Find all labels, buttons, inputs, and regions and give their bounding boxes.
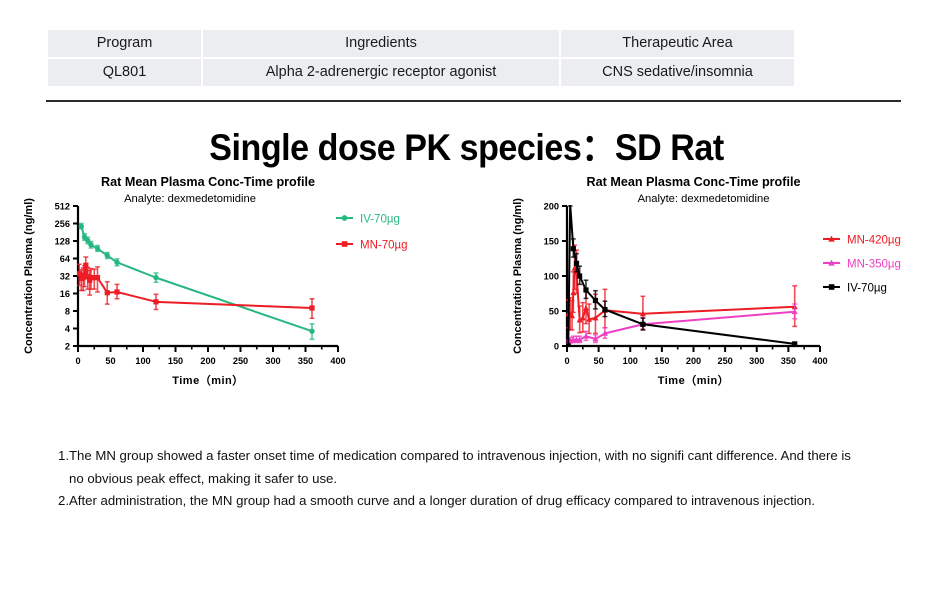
series-line (79, 265, 312, 308)
chart-canvas: Rat Mean Plasma Conc-Time profileAnalyte… (505, 172, 930, 402)
chart-canvas: Rat Mean Plasma Conc-Time profileAnalyte… (18, 172, 488, 402)
note-text: After administration, the MN group had a… (69, 490, 858, 513)
x-tick-label: 250 (233, 356, 248, 366)
series-IV-70µg (566, 204, 798, 349)
chart-right-multi-dose: Rat Mean Plasma Conc-Time profileAnalyte… (505, 172, 930, 402)
data-point (792, 341, 797, 346)
x-tick-label: 50 (594, 356, 604, 366)
x-axis-label: Time（min） (658, 374, 730, 387)
page-title: Single dose PK species：SD Rat (37, 117, 895, 171)
x-tick-label: 100 (623, 356, 638, 366)
table-header-program: Program (47, 29, 202, 58)
data-point (577, 273, 582, 278)
conclusion-notes: 1. The MN group showed a faster onset ti… (58, 445, 858, 513)
y-tick-label: 2 (65, 341, 70, 351)
data-point (105, 290, 110, 295)
x-tick-label: 350 (781, 356, 796, 366)
y-tick-label: 128 (55, 236, 70, 246)
x-tick-label: 0 (564, 356, 569, 366)
data-point (580, 315, 586, 321)
table-cell-program: QL801 (47, 58, 202, 87)
legend-item-MN-350µg[interactable]: MN-350µg (823, 259, 901, 271)
y-tick-label: 256 (55, 219, 70, 229)
y-axis-label: Concentration Plasma (ng/ml) (512, 198, 524, 354)
data-point (583, 305, 589, 311)
legend-item-MN-70µg[interactable]: MN-70µg (336, 240, 408, 252)
legend-item-MN-420µg[interactable]: MN-420µg (823, 235, 901, 247)
x-axis-label: Time（min） (172, 374, 244, 387)
data-point (571, 246, 576, 251)
plot-area (565, 204, 797, 349)
table-header-spacer (795, 29, 909, 58)
note-number: 2. (58, 490, 69, 513)
note-item: 1. The MN group showed a faster onset ti… (58, 445, 858, 490)
data-point (105, 253, 110, 258)
y-tick-label: 16 (60, 289, 70, 299)
series-line (81, 226, 312, 331)
y-tick-label: 100 (544, 271, 559, 281)
table-cell-spacer (795, 58, 909, 87)
note-text: The MN group showed a faster onset time … (69, 445, 858, 490)
y-tick-label: 512 (55, 201, 70, 211)
plot-area (77, 224, 315, 340)
legend-marker (342, 215, 348, 221)
series-MN-350µg (565, 304, 797, 345)
table-cell-therapeutic-area: CNS sedative/insomnia (560, 58, 795, 87)
y-tick-label: 150 (544, 236, 559, 246)
legend-item-IV-70µg[interactable]: IV-70µg (336, 214, 400, 226)
data-point (153, 299, 158, 304)
note-item: 2. After administration, the MN group ha… (58, 490, 858, 513)
data-point (114, 289, 119, 294)
chart-title: Rat Mean Plasma Conc-Time profile (101, 175, 315, 189)
x-tick-label: 150 (654, 356, 669, 366)
table-cell-ingredients: Alpha 2-adrenergic receptor agonist (202, 58, 560, 87)
legend-label: MN-420µg (847, 235, 901, 247)
data-point (95, 246, 100, 251)
program-info-table: Program Ingredients Therapeutic Area QL8… (46, 28, 910, 88)
data-point (309, 305, 314, 310)
x-tick-label: 200 (200, 356, 215, 366)
table-data-row: QL801 Alpha 2-adrenergic receptor agonis… (47, 58, 909, 87)
chart-subtitle: Analyte: dexmedetomidine (638, 193, 770, 205)
series-MN-70µg (77, 257, 315, 318)
legend-label: MN-70µg (360, 240, 408, 252)
x-tick-label: 200 (686, 356, 701, 366)
x-tick-label: 400 (330, 356, 345, 366)
y-tick-label: 200 (544, 201, 559, 211)
x-tick-label: 400 (812, 356, 827, 366)
legend-label: IV-70µg (847, 283, 887, 295)
x-tick-label: 0 (75, 356, 80, 366)
data-point (583, 287, 588, 292)
x-tick-label: 50 (105, 356, 115, 366)
series-line (568, 312, 794, 343)
data-point (88, 242, 93, 247)
data-point (83, 263, 88, 268)
y-tick-label: 4 (65, 324, 71, 334)
data-point (79, 224, 84, 229)
y-tick-label: 64 (60, 254, 71, 264)
data-point (95, 275, 100, 280)
legend-item-IV-70µg[interactable]: IV-70µg (823, 283, 887, 295)
data-point (570, 290, 576, 296)
data-point (602, 307, 607, 312)
y-tick-label: 32 (60, 271, 70, 281)
header-divider (46, 100, 901, 102)
data-point (114, 260, 119, 265)
data-point (640, 322, 645, 327)
table-header-ingredients: Ingredients (202, 29, 560, 58)
y-tick-label: 8 (65, 306, 70, 316)
chart-title: Rat Mean Plasma Conc-Time profile (587, 175, 801, 189)
series-line (568, 204, 794, 346)
y-tick-label: 0 (554, 341, 559, 351)
table-header-therapeutic-area: Therapeutic Area (560, 29, 795, 58)
data-point (153, 275, 158, 280)
legend-label: MN-350µg (847, 259, 901, 271)
data-point (309, 328, 314, 333)
x-tick-label: 150 (168, 356, 183, 366)
x-tick-label: 300 (265, 356, 280, 366)
data-point (574, 261, 579, 266)
legend-marker (829, 284, 835, 290)
x-tick-label: 300 (749, 356, 764, 366)
x-tick-label: 100 (135, 356, 150, 366)
legend-label: IV-70µg (360, 214, 400, 226)
x-tick-label: 250 (717, 356, 732, 366)
x-tick-label: 350 (298, 356, 313, 366)
y-tick-label: 50 (549, 306, 559, 316)
y-axis-label: Concentration Plasma (ng/ml) (23, 198, 35, 354)
chart-left-single-dose-70ug: Rat Mean Plasma Conc-Time profileAnalyte… (18, 172, 488, 402)
chart-subtitle: Analyte: dexmedetomidine (124, 193, 256, 205)
table-header-row: Program Ingredients Therapeutic Area (47, 29, 909, 58)
note-number: 1. (58, 445, 69, 468)
data-point (593, 298, 598, 303)
series-IV-70µg (79, 224, 315, 340)
legend-marker (342, 241, 348, 247)
